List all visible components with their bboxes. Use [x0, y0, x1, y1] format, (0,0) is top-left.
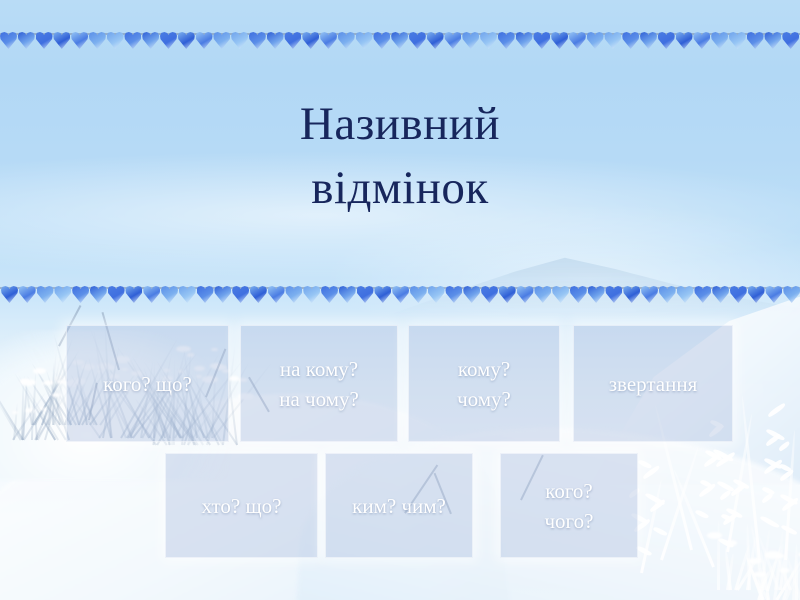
bunting-heart-icon: [444, 32, 461, 51]
bunting-heart-icon: [782, 32, 799, 51]
bunting-heart-icon: [551, 32, 568, 51]
bunting-heart-icon: [320, 32, 337, 51]
bunting-heart-icon: [517, 286, 534, 305]
bunting-heart-icon: [107, 32, 124, 51]
card-kogo-chogo[interactable]: кого? чого?: [500, 453, 638, 558]
snow-cap: [229, 376, 240, 381]
bunting-heart-icon: [588, 286, 605, 305]
bunting-heart-icon: [302, 32, 319, 51]
bunting-heart-icon: [693, 32, 710, 51]
bunting-heart-icon: [747, 32, 764, 51]
bunting-heart-icon: [142, 32, 159, 51]
bunting-heart-icon: [569, 32, 586, 51]
bunting-heart-icon: [552, 286, 569, 305]
bunting-heart-icon: [481, 286, 498, 305]
bunting-heart-icon: [285, 286, 302, 305]
bunting-heart-icon: [36, 32, 53, 51]
heart-bunting-middle: [0, 282, 800, 308]
bunting-heart-icon: [391, 32, 408, 51]
bunting-heart-icon: [160, 32, 177, 51]
bunting-heart-icon: [72, 286, 89, 305]
bunting-heart-icon: [445, 286, 462, 305]
bunting-heart-icon: [428, 286, 445, 305]
bunting-heart-icon: [694, 286, 711, 305]
card-kogo-shcho[interactable]: кого? що?: [66, 325, 229, 442]
bunting-heart-icon: [249, 32, 266, 51]
card-label: кому? чому?: [457, 354, 511, 414]
card-label: кого? що?: [103, 369, 192, 399]
bunting-heart-icon: [730, 286, 747, 305]
bunting-heart-icon: [604, 32, 621, 51]
bunting-heart-icon: [357, 286, 374, 305]
bunting-heart-icon: [765, 286, 782, 305]
bunting-heart-icon: [677, 286, 694, 305]
bunting-heart-icon: [605, 286, 622, 305]
bunting-heart-icon: [480, 32, 497, 51]
bunting-heart-icon: [498, 32, 515, 51]
bunting-heart-icon: [622, 32, 639, 51]
card-label: ким? чим?: [352, 491, 446, 521]
bunting-heart-icon: [748, 286, 765, 305]
bunting-heart-icon: [711, 32, 728, 51]
bunting-heart-icon: [89, 32, 106, 51]
page-title: Називний відмінок: [0, 92, 800, 220]
bunting-heart-icon: [676, 32, 693, 51]
bunting-heart-icon: [108, 286, 125, 305]
frost-stem: [640, 478, 644, 573]
bunting-heart-icon: [213, 32, 230, 51]
bunting-heart-icon: [214, 286, 231, 305]
card-zvertannya[interactable]: звертання: [573, 325, 733, 442]
slide-root: Називний відмінок кого? що? на кому? на …: [0, 0, 800, 600]
bunting-heart-icon: [250, 286, 267, 305]
bunting-heart-icon: [570, 286, 587, 305]
bunting-heart-icon: [268, 286, 285, 305]
bunting-heart-icon: [463, 286, 480, 305]
card-komu-chomu[interactable]: кому? чому?: [408, 325, 560, 442]
page-title-line-2: відмінок: [0, 156, 800, 220]
bunting-heart-icon: [356, 32, 373, 51]
bunting-heart-icon: [534, 286, 551, 305]
bunting-heart-icon: [374, 286, 391, 305]
bunting-heart-icon: [303, 286, 320, 305]
snow-cap: [779, 568, 790, 573]
bunting-heart-icon: [533, 32, 550, 51]
card-label: звертання: [609, 369, 698, 399]
bunting-heart-icon: [197, 286, 214, 305]
bunting-heart-icon: [783, 286, 800, 305]
bunting-heart-icon: [764, 32, 781, 51]
bunting-heart-icon: [658, 32, 675, 51]
bunting-heart-icon: [392, 286, 409, 305]
bunting-heart-icon: [125, 286, 142, 305]
bunting-heart-icon: [231, 32, 248, 51]
bunting-heart-icon: [90, 286, 107, 305]
bunting-heart-icon: [179, 286, 196, 305]
page-title-line-1: Називний: [0, 92, 800, 156]
bunting-heart-icon: [143, 286, 160, 305]
bunting-heart-icon: [178, 32, 195, 51]
heart-bunting-top: [0, 28, 800, 54]
bunting-heart-icon: [124, 32, 141, 51]
snow-cap: [707, 532, 722, 539]
bunting-heart-icon: [0, 32, 17, 51]
bunting-heart-icon: [37, 286, 54, 305]
bunting-heart-icon: [587, 32, 604, 51]
bunting-heart-icon: [232, 286, 249, 305]
bunting-heart-icon: [641, 286, 658, 305]
bunting-heart-icon: [338, 32, 355, 51]
bunting-heart-icon: [373, 32, 390, 51]
snow-cap: [12, 411, 18, 414]
bunting-heart-icon: [267, 32, 284, 51]
bunting-heart-icon: [284, 32, 301, 51]
bunting-heart-icon: [427, 32, 444, 51]
bunting-heart-icon: [729, 32, 746, 51]
bunting-heart-icon: [659, 286, 676, 305]
bunting-heart-icon: [623, 286, 640, 305]
card-hto-shcho[interactable]: хто? що?: [165, 453, 318, 558]
bunting-heart-icon: [499, 286, 516, 305]
bunting-heart-icon: [339, 286, 356, 305]
bunting-heart-icon: [640, 32, 657, 51]
bunting-heart-icon: [410, 286, 427, 305]
card-na-komu-na-chomu[interactable]: на кому? на чому?: [240, 325, 398, 442]
bunting-heart-icon: [71, 32, 88, 51]
bunting-heart-icon: [196, 32, 213, 51]
bunting-heart-icon: [409, 32, 426, 51]
bunting-heart-icon: [19, 286, 36, 305]
bunting-heart-icon: [18, 32, 35, 51]
bunting-heart-icon: [516, 32, 533, 51]
bunting-heart-icon: [712, 286, 729, 305]
card-label: на кому? на чому?: [279, 354, 359, 414]
snow-grass-clump: [10, 360, 70, 440]
card-label: хто? що?: [202, 491, 282, 521]
frost-stem: [660, 440, 664, 560]
card-kym-chym[interactable]: ким? чим?: [325, 453, 473, 558]
card-label: кого? чого?: [545, 476, 594, 536]
snow-cap: [725, 540, 737, 545]
bunting-heart-icon: [53, 32, 70, 51]
bunting-heart-icon: [321, 286, 338, 305]
snow-grass-clump: [752, 540, 800, 600]
bunting-heart-icon: [54, 286, 71, 305]
bunting-heart-icon: [1, 286, 18, 305]
bunting-heart-icon: [462, 32, 479, 51]
bunting-heart-icon: [161, 286, 178, 305]
